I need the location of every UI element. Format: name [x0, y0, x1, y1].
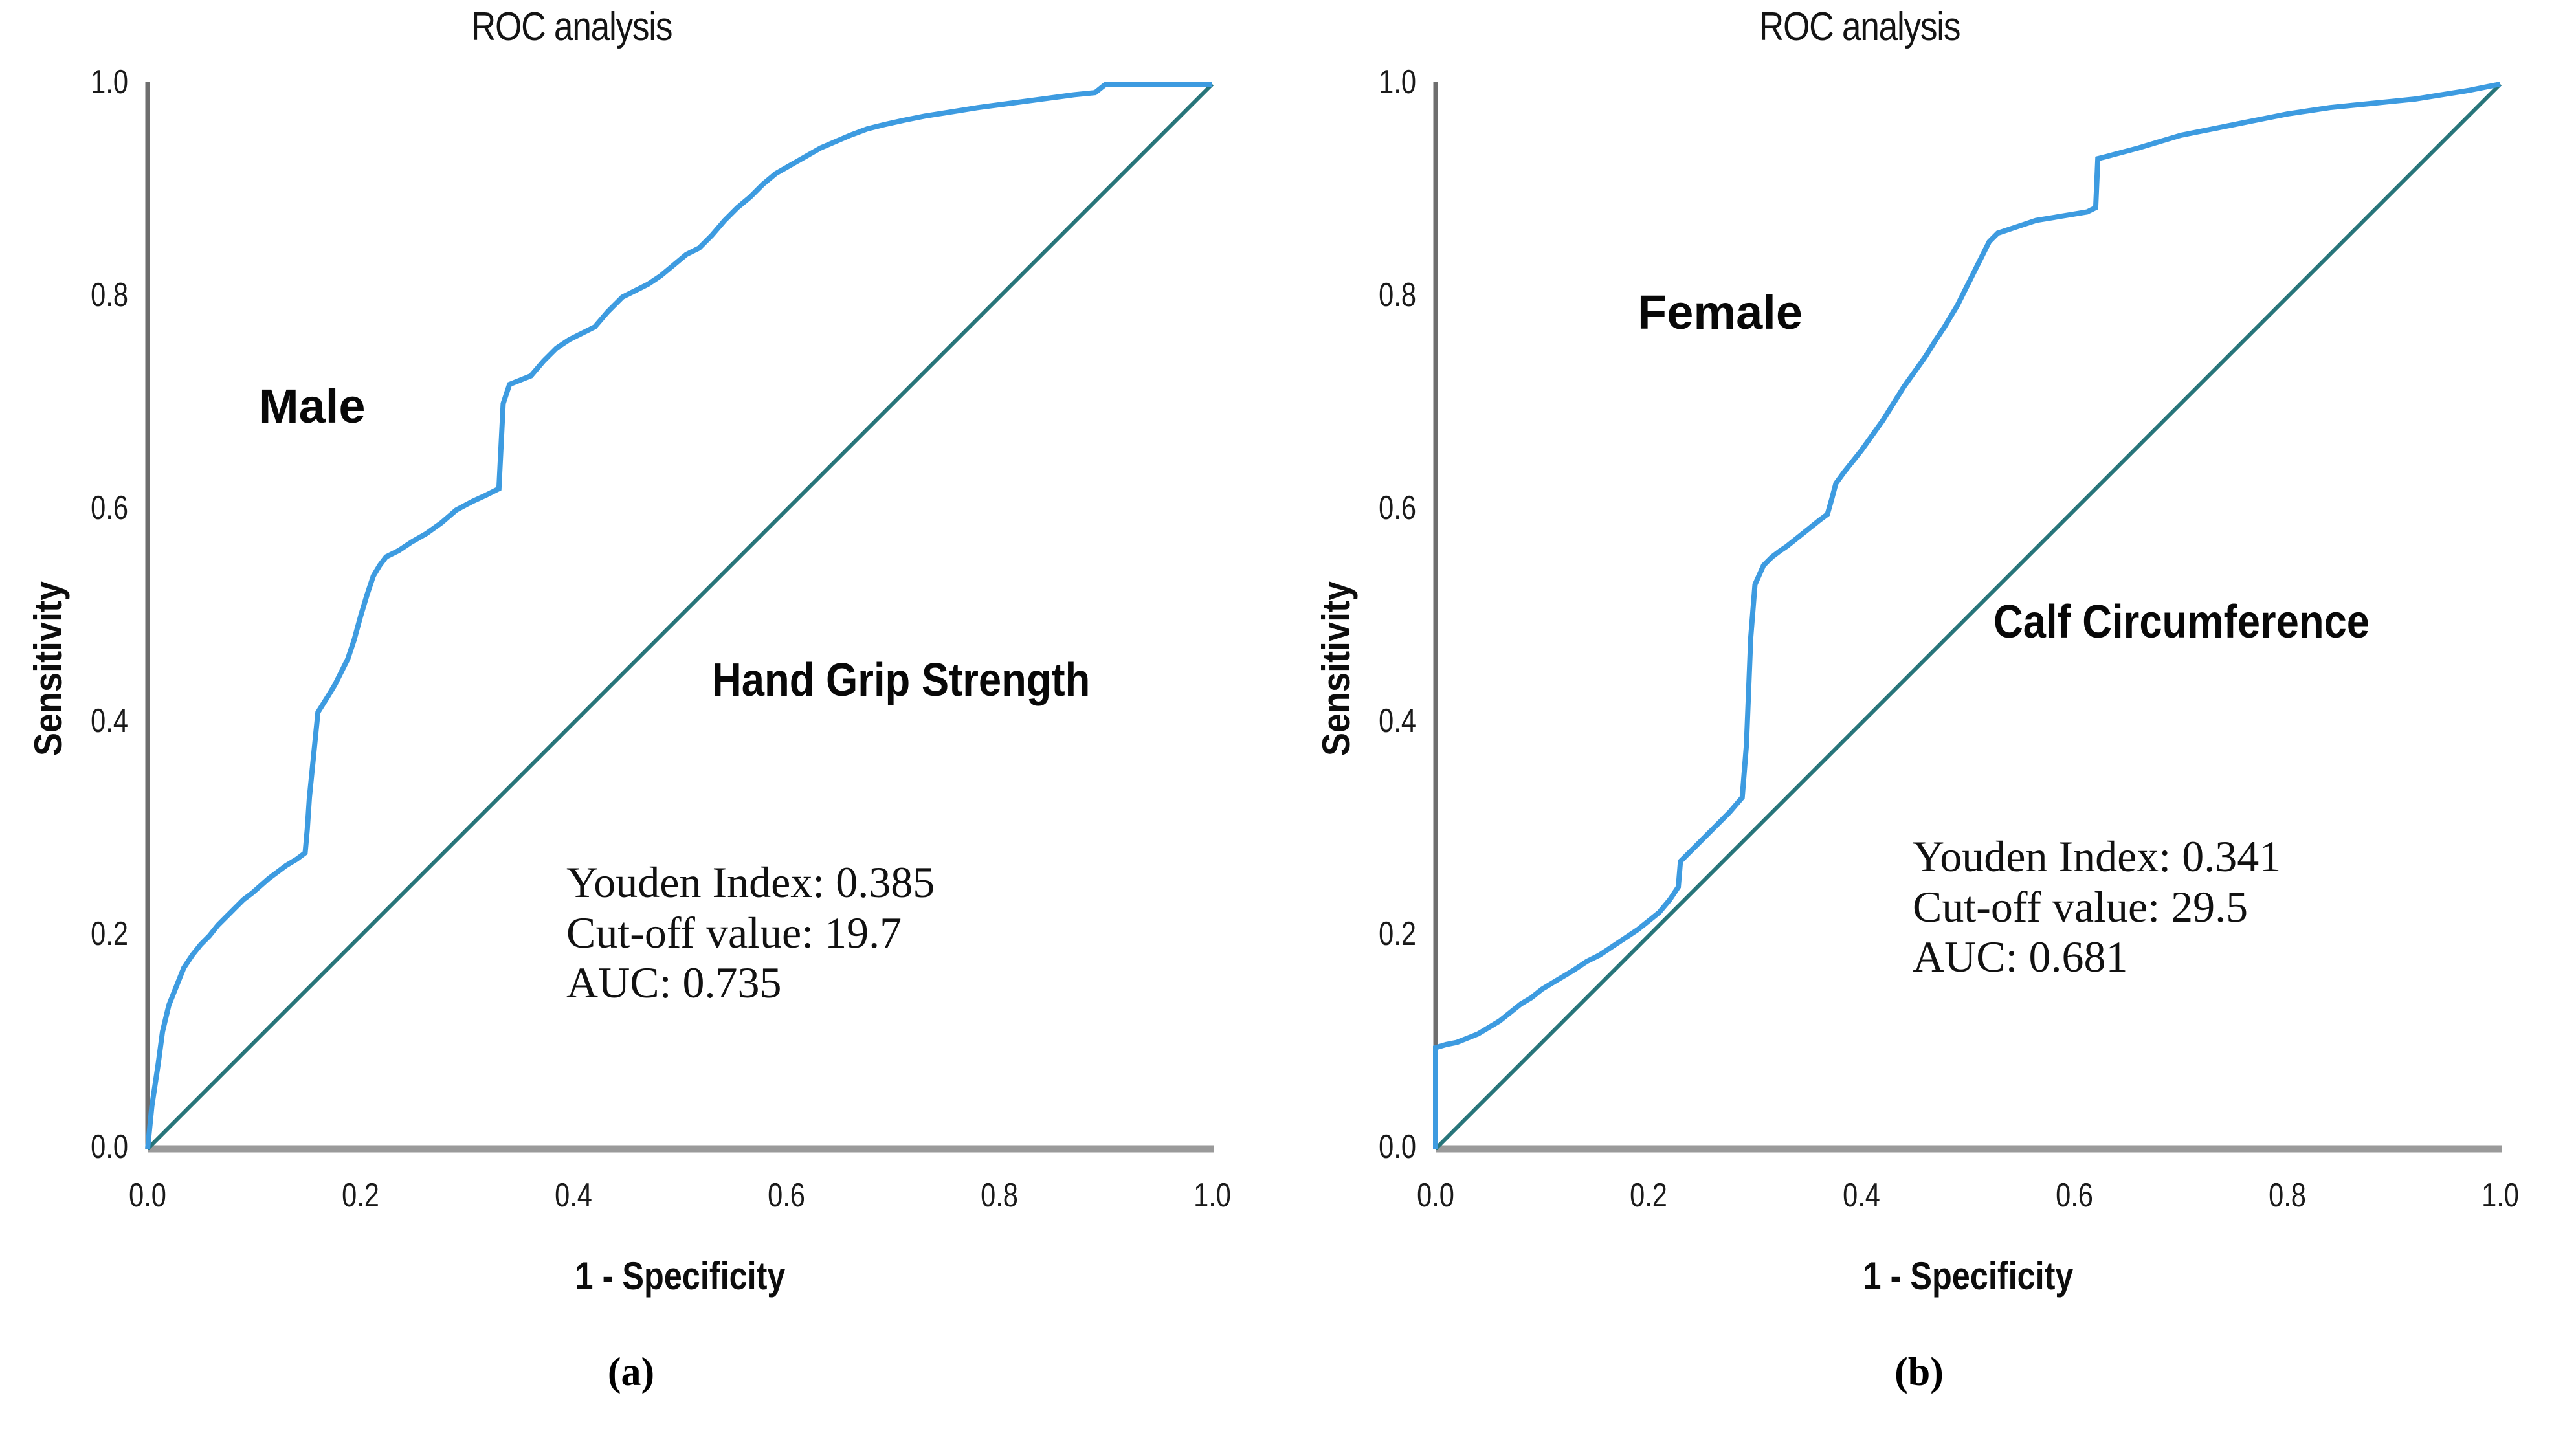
x-tick-label: 1.0: [1160, 1176, 1264, 1215]
stats-block-b: Youden Index: 0.341 Cut-off value: 29.5 …: [1913, 832, 2281, 983]
y-tick-label: 1.0: [30, 63, 128, 102]
x-axis-label-b: 1 - Specificity: [1751, 1254, 2186, 1298]
measure-label-calf-circumference: Calf Circumference: [1993, 595, 2370, 649]
stat-auc-a: AUC: 0.735: [566, 958, 935, 1008]
roc-panel-a: ROC analysis Sensitivity 1 - Specificity…: [0, 0, 1288, 1433]
x-tick-label: 1.0: [2448, 1176, 2552, 1215]
x-tick-label: 0.4: [522, 1176, 625, 1215]
subfigure-caption-b: (b): [1790, 1350, 2049, 1395]
stat-youden-a: Youden Index: 0.385: [566, 858, 935, 908]
y-tick-label: 0.8: [1318, 276, 1416, 315]
y-tick-label: 0.6: [30, 489, 128, 528]
y-tick-label: 0.4: [30, 702, 128, 740]
y-tick-label: 0.8: [30, 276, 128, 315]
x-tick-label: 0.8: [948, 1176, 1051, 1215]
x-tick-label: 0.6: [2023, 1176, 2126, 1215]
x-tick-label: 0.6: [735, 1176, 838, 1215]
roc-panel-b: ROC analysis Sensitivity 1 - Specificity…: [1288, 0, 2576, 1433]
stat-cutoff-a: Cut-off value: 19.7: [566, 908, 935, 959]
y-tick-label: 0.2: [30, 915, 128, 953]
stat-youden-b: Youden Index: 0.341: [1913, 832, 2281, 882]
x-tick-label: 0.8: [2236, 1176, 2339, 1215]
series-label-male: Male: [259, 379, 366, 434]
stats-block-a: Youden Index: 0.385 Cut-off value: 19.7 …: [566, 858, 935, 1008]
y-tick-label: 0.6: [1318, 489, 1416, 528]
y-tick-label: 0.2: [1318, 915, 1416, 953]
x-tick-label: 0.2: [1597, 1176, 1700, 1215]
y-tick-label: 0.0: [1318, 1128, 1416, 1166]
x-tick-label: 0.4: [1810, 1176, 1913, 1215]
x-tick-label: 0.0: [1384, 1176, 1487, 1215]
y-tick-label: 1.0: [1318, 63, 1416, 102]
subfigure-caption-a: (a): [502, 1350, 761, 1395]
series-label-female: Female: [1638, 285, 1803, 340]
x-tick-label: 0.0: [96, 1176, 199, 1215]
y-tick-label: 0.4: [1318, 702, 1416, 740]
stat-auc-b: AUC: 0.681: [1913, 932, 2281, 983]
y-tick-label: 0.0: [30, 1128, 128, 1166]
stat-cutoff-b: Cut-off value: 29.5: [1913, 882, 2281, 933]
roc-plot-a: [0, 0, 1288, 1230]
measure-label-hand-grip-strength: Hand Grip Strength: [712, 654, 1090, 707]
x-tick-label: 0.2: [309, 1176, 412, 1215]
x-axis-label-a: 1 - Specificity: [463, 1254, 898, 1298]
roc-plot-b: [1288, 0, 2576, 1230]
